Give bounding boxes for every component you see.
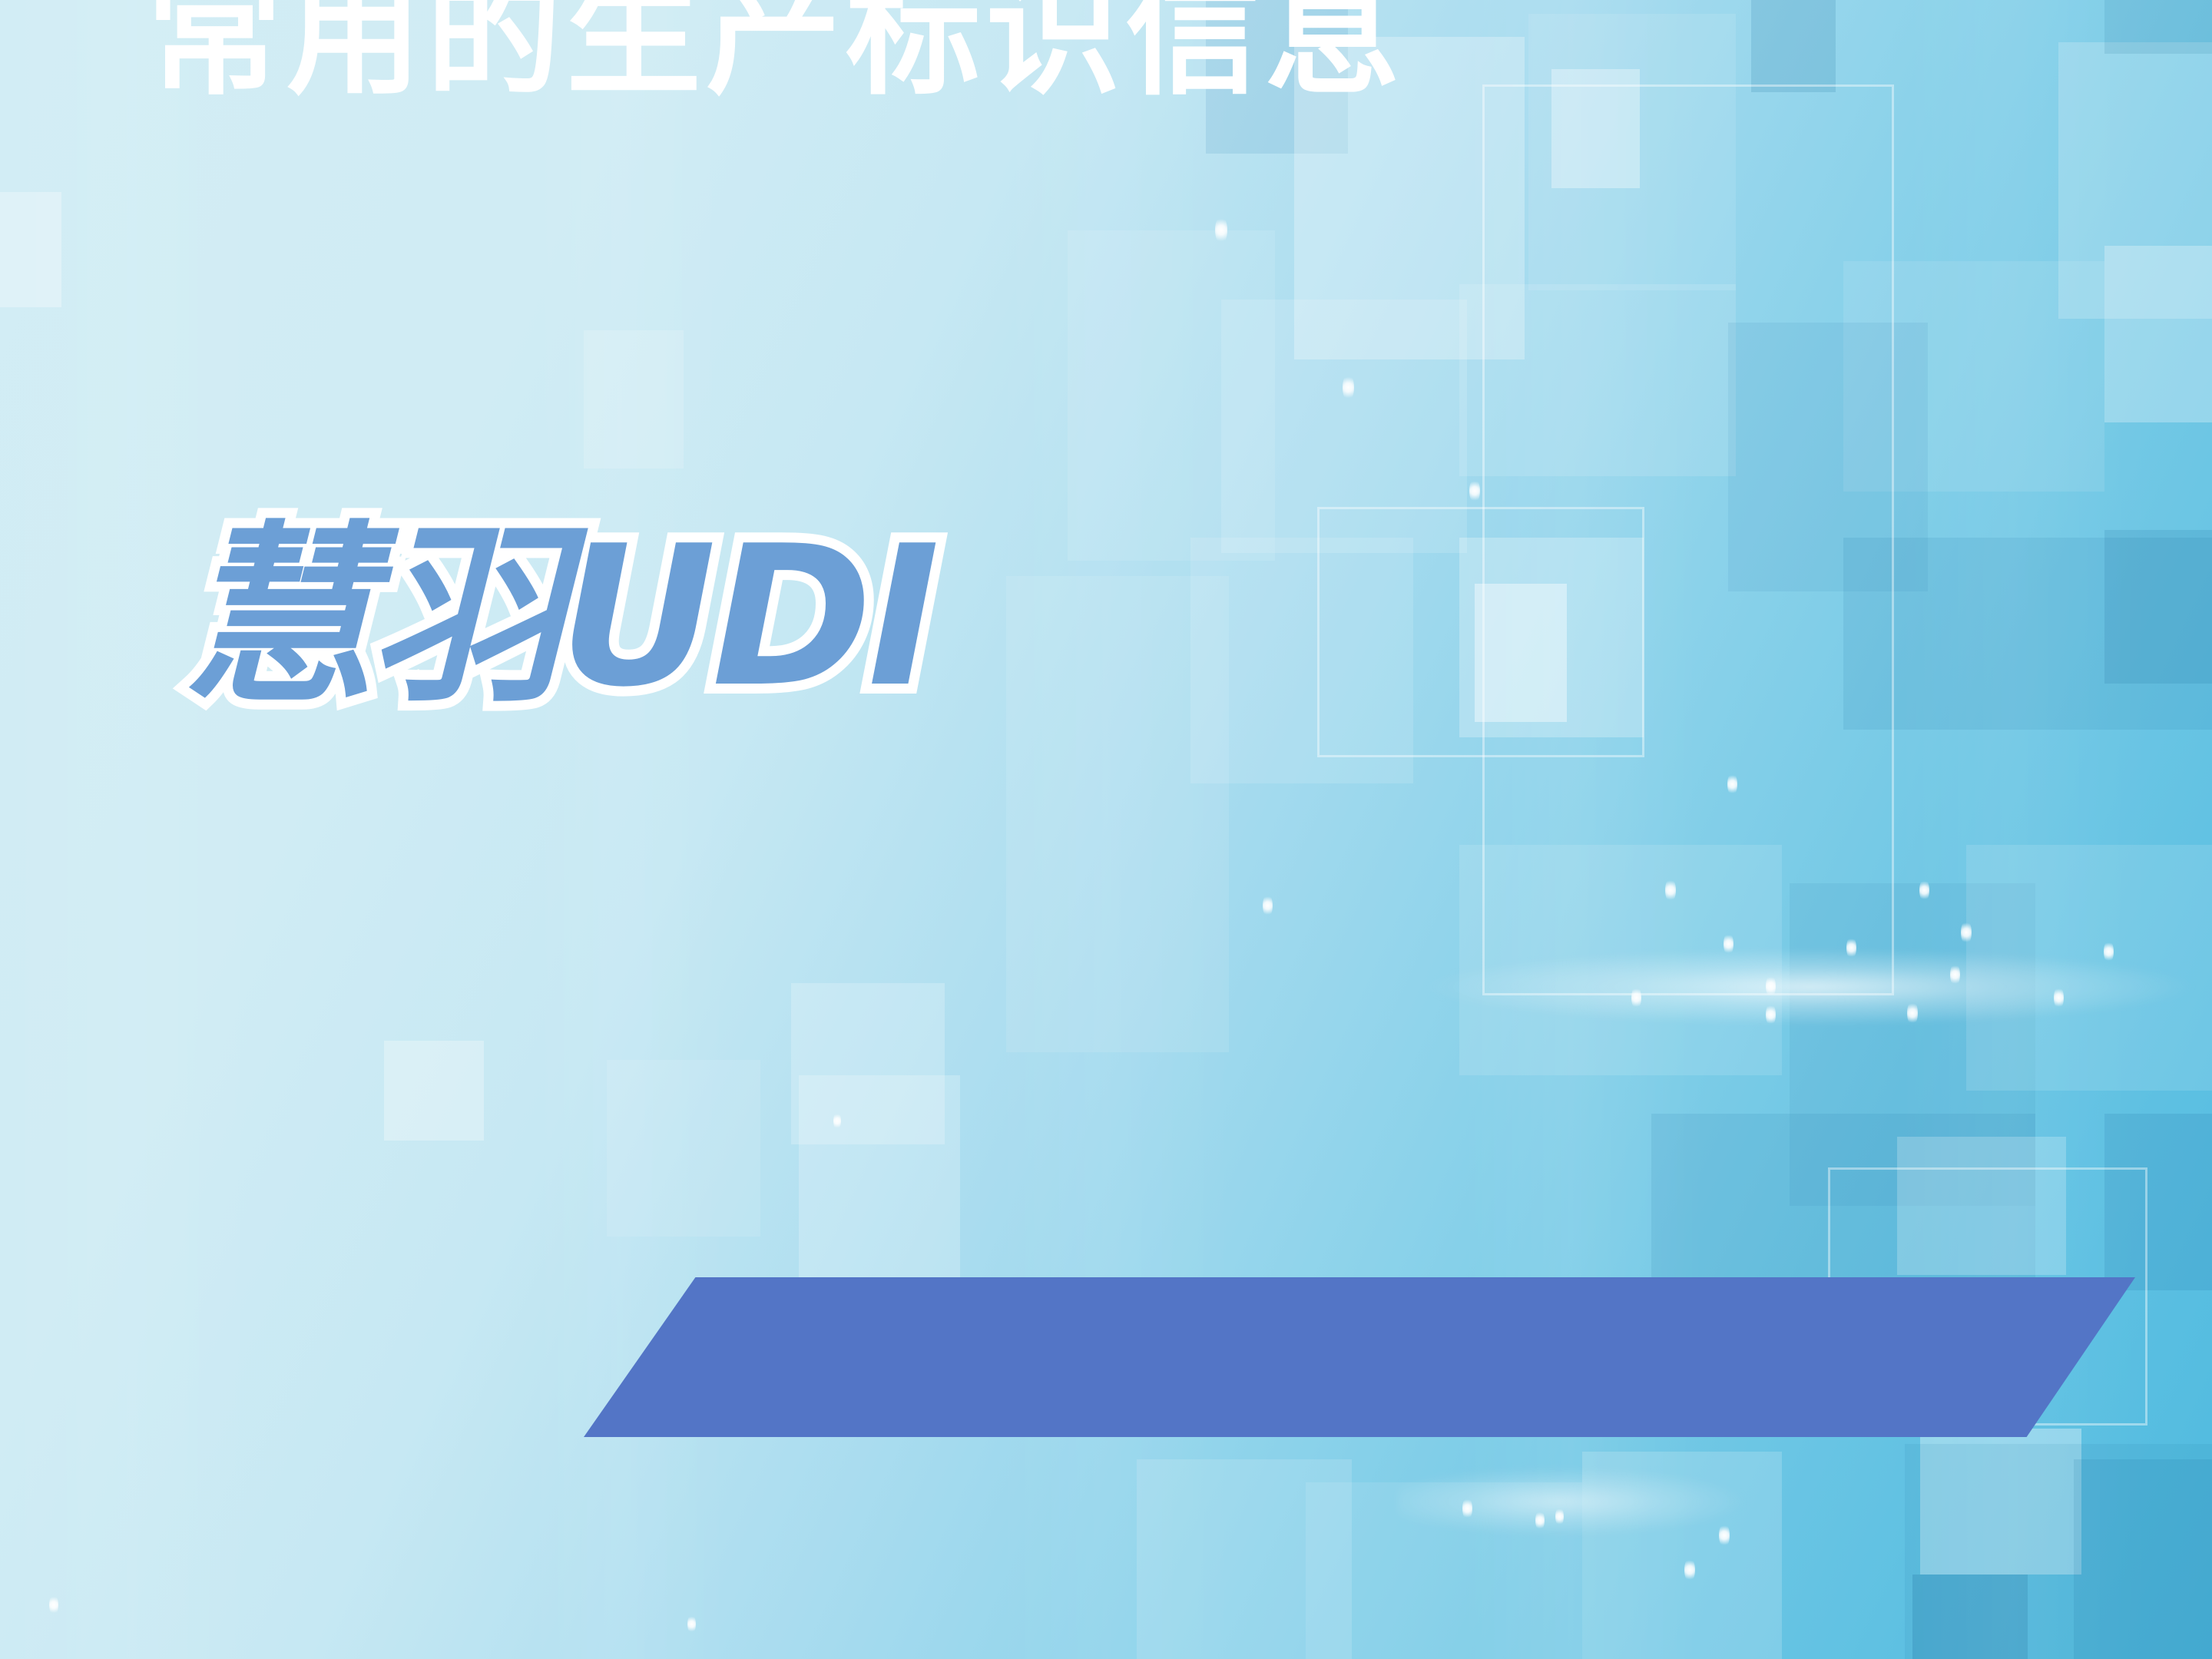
title-slide: 慧羽UDI 常用的生产标识信息: [0, 0, 2212, 1659]
page-title: 慧羽UDI: [181, 516, 935, 720]
subtitle-banner: [584, 1277, 2135, 1437]
glow-band-secondary: [1398, 1444, 1936, 1559]
subtitle-text: 常用的生产标识信息: [0, 0, 1551, 103]
glow-band-primary: [1152, 922, 2212, 1052]
